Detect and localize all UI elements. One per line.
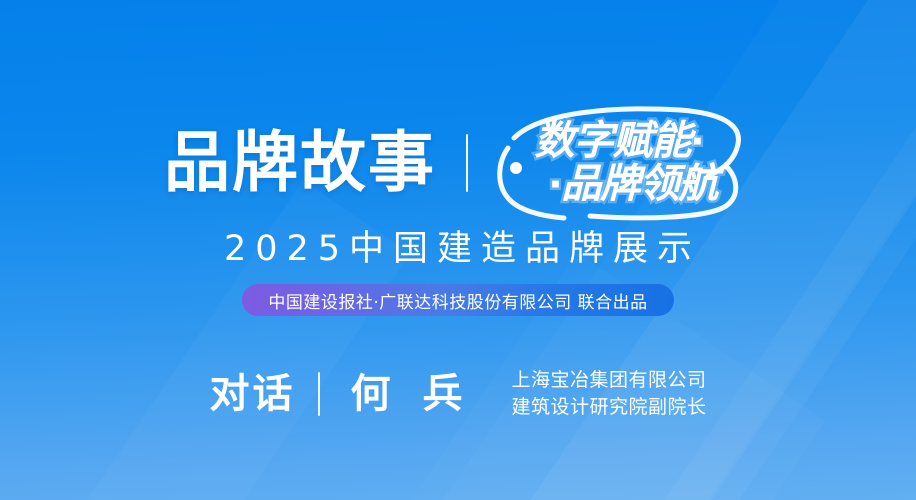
guest-name: 何 兵: [342, 374, 472, 414]
badge-text: 数字赋能· ·品牌领航: [494, 108, 752, 218]
presenter-pill-wrapper: 中国建设报社·广联达科技股份有限公司 联合出品: [0, 284, 916, 316]
guest-row: 对话 何 兵 上海宝冶集团有限公司 建筑设计研究院副院长: [0, 358, 916, 430]
badge-line-1-text: 数字赋能: [535, 118, 691, 164]
guest-affiliation-line-1: 上海宝冶集团有限公司: [511, 367, 706, 394]
brand-story-poster: 品牌故事 数字赋能· ·品牌领航 2025中国建造品牌展示 中国建设报社·广联达…: [0, 0, 916, 500]
header-row: 品牌故事 数字赋能· ·品牌领航: [0, 104, 916, 222]
event-subtitle: 2025中国建造品牌展示: [0, 228, 916, 270]
badge-dot: ·: [691, 121, 704, 162]
guest-affiliation-line-2: 建筑设计研究院副院长: [511, 394, 706, 421]
badge-line-1: 数字赋能·: [535, 120, 704, 163]
badge-line-2: ·品牌领航: [549, 163, 718, 206]
guest-divider: [318, 372, 320, 416]
page-title: 品牌故事: [164, 130, 436, 196]
badge-dot: ·: [549, 165, 562, 206]
presenter-pill: 中国建设报社·广联达科技股份有限公司 联合出品: [242, 284, 673, 316]
guest-affiliation: 上海宝冶集团有限公司 建筑设计研究院副院长: [511, 367, 706, 421]
badge-line-2-text: 品牌领航: [561, 161, 717, 207]
campaign-badge: 数字赋能· ·品牌领航: [494, 104, 752, 222]
dialogue-label: 对话: [210, 374, 296, 414]
title-divider: [466, 134, 468, 192]
